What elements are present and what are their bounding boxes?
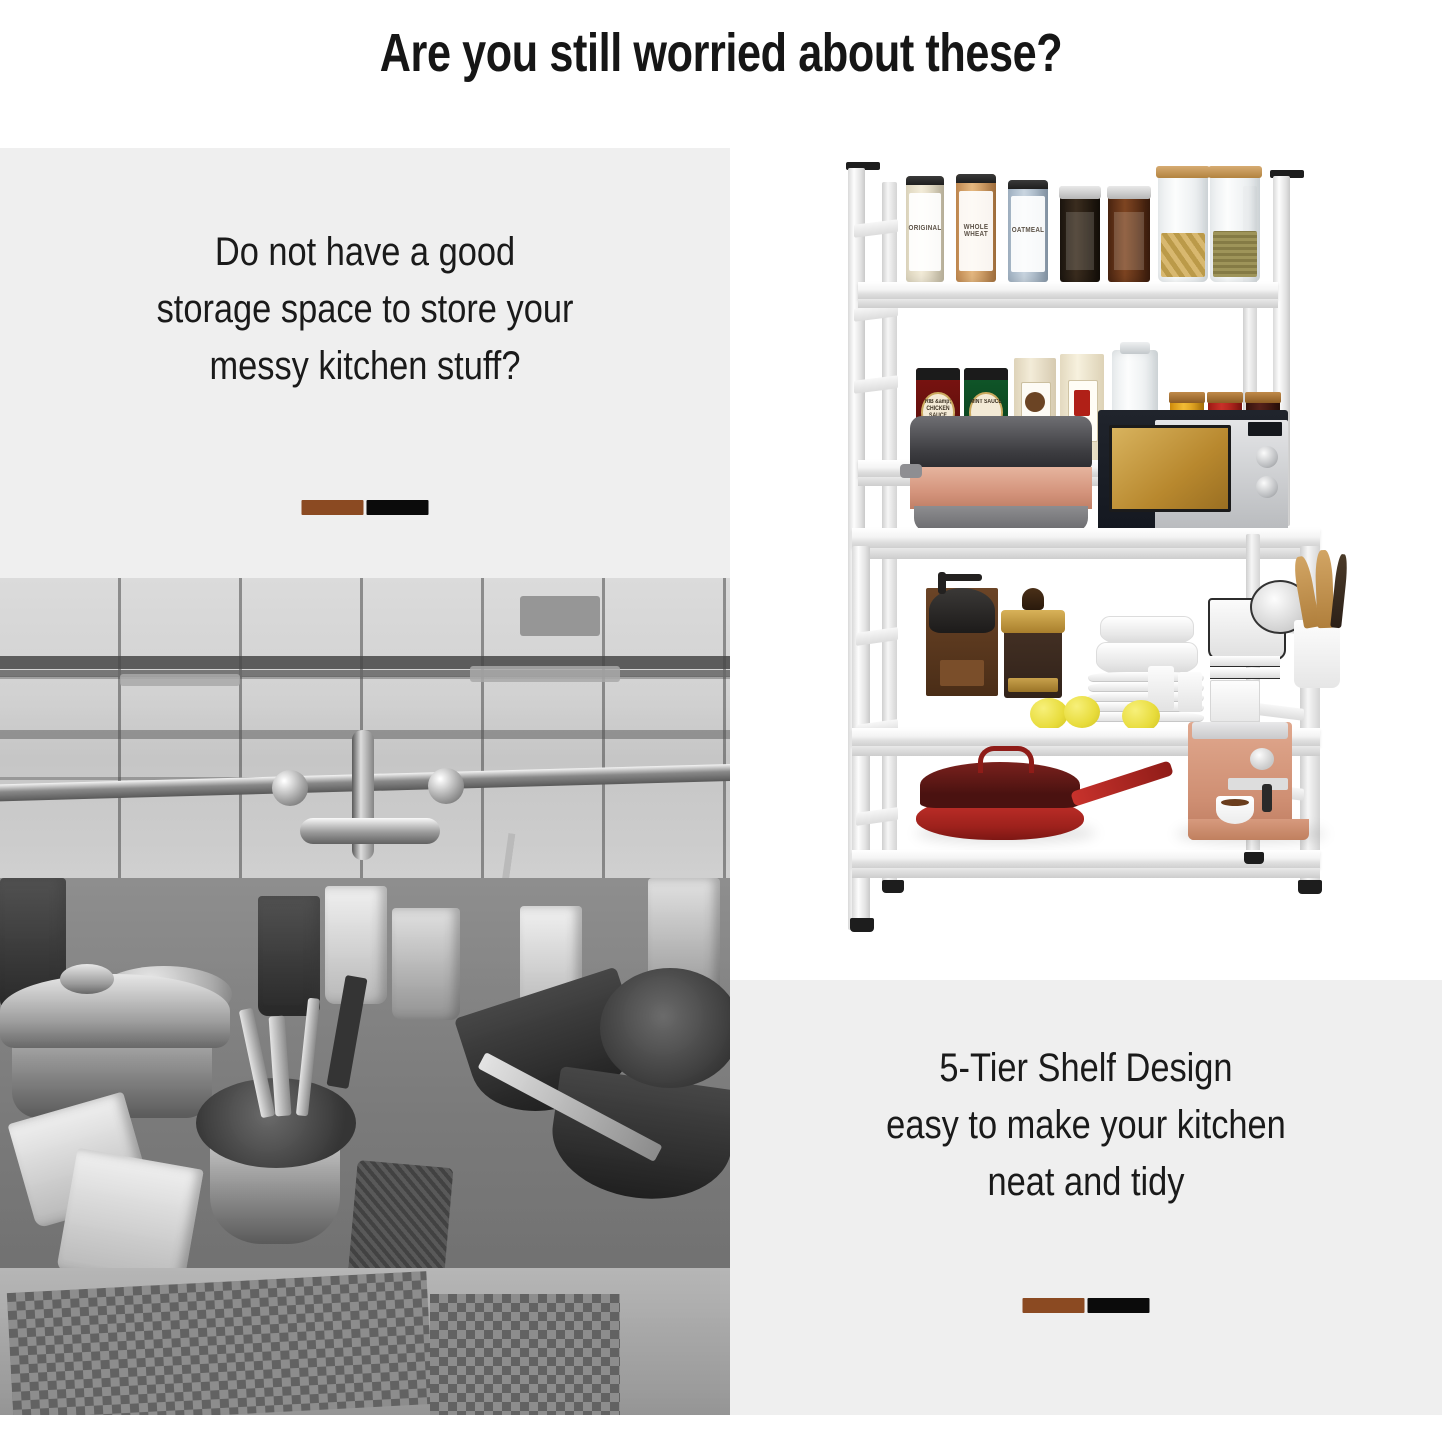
coffee-grinder [926, 588, 998, 696]
microwave-knob [1256, 446, 1278, 468]
solution-line-2: easy to make your kitchen [780, 1097, 1392, 1154]
amber-preserve-jar [1108, 186, 1150, 282]
bakers-rack-photo: ORIGINAL WHOLE WHEAT OATMEAL [730, 110, 1442, 980]
solution-line-1: 5-Tier Shelf Design [780, 1040, 1392, 1097]
bamboo-lid [1156, 166, 1210, 178]
grain-fill [1213, 231, 1257, 277]
espresso-warming-plate [1192, 722, 1288, 739]
whole-wheat-canister: WHOLE WHEAT [956, 174, 996, 282]
problem-callout-panel: Do not have a good storage space to stor… [0, 148, 730, 578]
glass-jar-pasta [1158, 166, 1208, 282]
problem-divider [302, 500, 429, 515]
cooker-body-band [910, 467, 1092, 509]
jar-label [1066, 212, 1094, 270]
espresso-dial [1250, 748, 1274, 770]
plate [1210, 656, 1280, 667]
faucet-knob [272, 770, 308, 806]
cooker-handle [900, 464, 922, 478]
jar-lid [1059, 186, 1101, 199]
lemon [1064, 696, 1100, 728]
page-title: Are you still worried about these? [144, 22, 1298, 84]
rack-foot [1244, 852, 1264, 864]
wall-peel [470, 666, 620, 682]
lemon [1030, 698, 1068, 730]
coffee-cup [1216, 796, 1254, 824]
dish-towel [7, 1271, 433, 1415]
shelf-edge-tier-1 [858, 299, 1278, 308]
rack-foot [850, 918, 874, 932]
canister-text: WHOLE WHEAT [958, 224, 994, 238]
ceramic-box [1210, 680, 1260, 722]
solution-callout-panel: 5-Tier Shelf Design easy to make your ki… [730, 980, 1442, 1415]
grinder-crank-handle [938, 572, 946, 594]
dirty-pan [600, 968, 730, 1088]
problem-callout-text: Do not have a good storage space to stor… [51, 224, 679, 394]
canister-label [909, 193, 941, 271]
faucet-body [300, 818, 440, 844]
jar-lid [1107, 186, 1151, 199]
spice-lid [1207, 392, 1243, 403]
solution-divider [1023, 1298, 1150, 1313]
wall-peel [120, 674, 240, 686]
plate [1210, 668, 1280, 679]
box-graphic [1025, 392, 1045, 412]
jar-label [1114, 212, 1144, 270]
sauce-label-text: MINT SAUCE [967, 399, 1004, 406]
french-press [1004, 610, 1062, 698]
problem-line-3: messy kitchen stuff? [51, 338, 679, 395]
divider-bar-brown [302, 500, 364, 515]
bottle-seal [916, 368, 960, 380]
problem-line-1: Do not have a good [51, 224, 679, 281]
shelf-edge-tier-5 [852, 868, 1320, 878]
dirty-glass [392, 908, 460, 1020]
rack-foot [882, 880, 904, 893]
microwave-oven [1098, 410, 1288, 532]
divider-bar-black [1088, 1298, 1150, 1313]
pot-lid [0, 974, 230, 1048]
marketing-image: Are you still worried about these? Do no… [0, 0, 1442, 1442]
canister-label [1011, 196, 1045, 272]
divider-bar-brown [1023, 1298, 1085, 1313]
problem-line-2: storage space to store your [51, 281, 679, 338]
rice-cooker [910, 416, 1092, 532]
press-lid [1001, 610, 1066, 633]
oatmeal-canister-blue: OATMEAL [1008, 180, 1048, 282]
utensil-holder [1294, 620, 1340, 688]
bamboo-lid [1208, 166, 1262, 178]
wall-grout-line [0, 670, 730, 677]
coffee-liquid [1221, 799, 1250, 806]
grinder-dome [929, 588, 995, 633]
dark-wooden-spoon [1330, 554, 1349, 629]
espresso-drip-tray [1188, 819, 1309, 840]
oatmeal-canister: ORIGINAL [906, 176, 944, 282]
pasta-fill [1161, 233, 1205, 277]
lid-knob [60, 964, 114, 994]
microwave-display [1248, 422, 1282, 436]
wall-grout-line [0, 656, 730, 669]
solution-callout-text: 5-Tier Shelf Design easy to make your ki… [780, 1040, 1392, 1210]
canister-text: OATMEAL [1010, 227, 1046, 234]
spice-lid [1245, 392, 1281, 403]
canister-lid [906, 176, 944, 185]
grinder-drawer [940, 660, 984, 686]
glass-jar-grains [1210, 166, 1260, 282]
steam-wand [1262, 784, 1272, 812]
divider-bar-black [367, 500, 429, 515]
canister-lid [956, 174, 996, 183]
press-base-band [1008, 678, 1058, 692]
espresso-group-head [1228, 778, 1288, 790]
solution-line-3: neat and tidy [780, 1154, 1392, 1211]
shelf-board-tier-1 [858, 282, 1278, 299]
rack-foot [1298, 880, 1322, 894]
microwave-door-glass [1109, 425, 1231, 513]
press-knob [1022, 588, 1044, 610]
spice-lid [1169, 392, 1205, 403]
soap-dispenser [1178, 672, 1202, 712]
box-graphic [1074, 390, 1090, 416]
dark-preserve-jar [1060, 186, 1100, 282]
microwave-knob [1256, 476, 1278, 498]
messy-sink-photo [0, 578, 730, 1415]
cooker-lid [910, 416, 1092, 469]
bottle-seal [964, 368, 1008, 380]
clamp-lid [1120, 342, 1150, 354]
wall-peel [520, 596, 600, 636]
skillet-handle [1070, 760, 1174, 806]
dish-towel [430, 1294, 620, 1415]
canister-text: ORIGINAL [908, 225, 942, 232]
side-rail [1258, 703, 1304, 721]
faucet-knob [428, 768, 464, 804]
canister-lid [1008, 180, 1048, 189]
lid-handle [978, 746, 1034, 773]
